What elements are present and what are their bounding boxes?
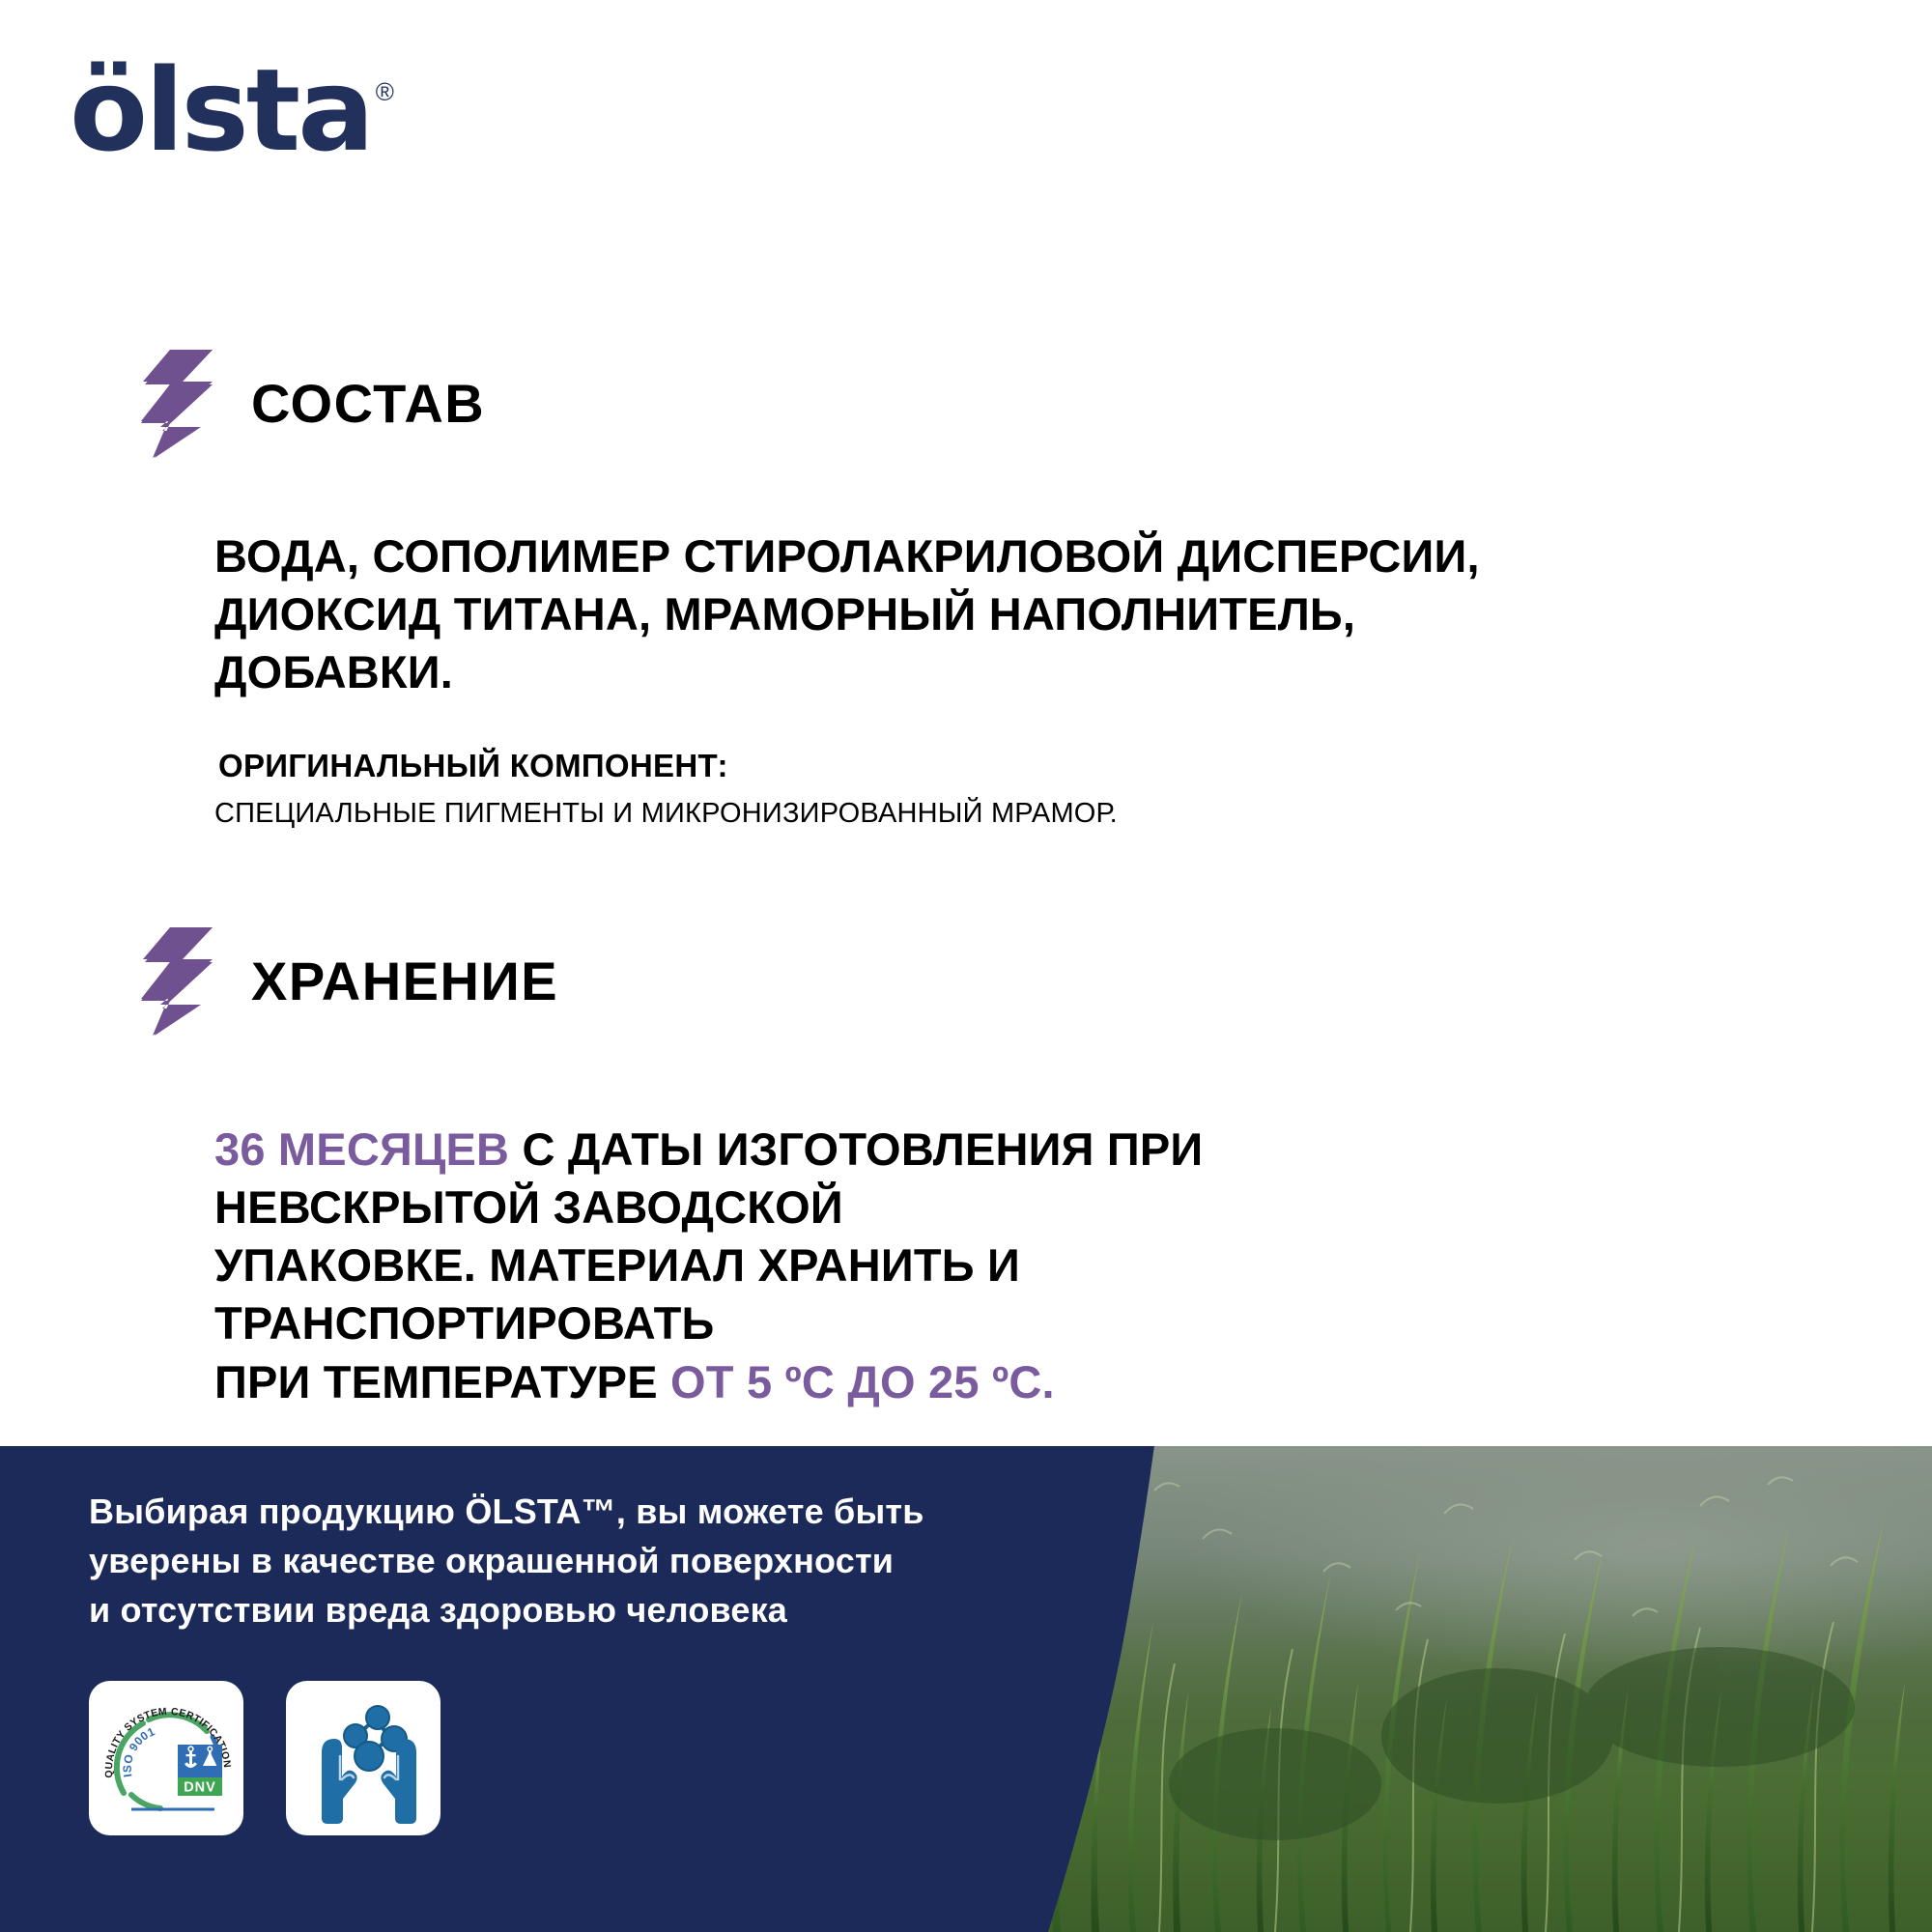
certification-badges: QUALITY SYSTEM CERTIFICATION ISO 9001	[89, 1681, 440, 1835]
hands-holding-molecules-badge	[286, 1681, 440, 1835]
footer-statement-line-3: и отсутствии вреда здоровью человека	[89, 1585, 958, 1634]
storage-line-1: 36 МЕСЯЦЕВ С ДАТЫ ИЗГОТОВЛЕНИЯ ПРИ НЕВСК…	[214, 1121, 1507, 1236]
original-component-text: СПЕЦИАЛЬНЫЕ ПИГМЕНТЫ И МИКРОНИЗИРОВАННЫЙ…	[0, 798, 1932, 830]
footer-banner: Выбирая продукцию ÖLSTA™, вы можете быть…	[0, 1446, 1932, 1932]
storage-line-2: УПАКОВКЕ. МАТЕРИАЛ ХРАНИТЬ И ТРАНСПОРТИР…	[214, 1236, 1507, 1352]
original-component-label: ОРИГИНАЛЬНЫЙ КОМПОНЕНТ:	[0, 748, 1932, 784]
lightning-bolt-icon	[141, 350, 213, 458]
section-composition-header: СОСТАВ	[0, 350, 1932, 458]
storage-duration-value: 36 МЕСЯЦЕВ	[214, 1123, 509, 1175]
footer-statement: Выбирая продукцию ÖLSTA™, вы можете быть…	[89, 1487, 958, 1634]
svg-text:DNV: DNV	[184, 1780, 216, 1796]
brand-logo: ölsta ®	[70, 56, 394, 164]
grass-field-photo	[956, 1446, 1932, 1932]
grass-blades-illustration	[956, 1446, 1932, 1932]
logo-wordmark: ölsta	[70, 56, 372, 164]
footer-statement-line-2: уверены в качестве окрашенной поверхност…	[89, 1536, 958, 1585]
section-storage-title: ХРАНЕНИЕ	[251, 954, 558, 1009]
iso-9001-dnv-logo-icon: QUALITY SYSTEM CERTIFICATION ISO 9001	[89, 1681, 243, 1835]
registered-trademark-icon: ®	[376, 77, 394, 107]
storage-temperature-label: ПРИ ТЕМПЕРАТУРЕ	[214, 1356, 670, 1407]
iso-9001-certification-badge: QUALITY SYSTEM CERTIFICATION ISO 9001	[89, 1681, 243, 1835]
composition-body-text: ВОДА, СОПОЛИМЕР СТИРОЛАКРИЛОВОЙ ДИСПЕРСИ…	[0, 527, 1507, 701]
section-composition-title: СОСТАВ	[251, 377, 485, 431]
hands-molecules-icon	[286, 1681, 440, 1835]
lightning-bolt-icon	[141, 927, 213, 1036]
footer-statement-line-1: Выбирая продукцию ÖLSTA™, вы можете быть	[89, 1487, 958, 1536]
section-storage: ХРАНЕНИЕ 36 МЕСЯЦЕВ С ДАТЫ ИЗГОТОВЛЕНИЯ …	[0, 927, 1932, 1411]
section-composition: СОСТАВ ВОДА, СОПОЛИМЕР СТИРОЛАКРИЛОВОЙ Д…	[0, 350, 1932, 830]
product-info-page: ölsta ® СОСТАВ ВОДА, СОПОЛИМЕР СТИРОЛАКР…	[0, 0, 1932, 1932]
section-storage-header: ХРАНЕНИЕ	[0, 927, 1932, 1036]
storage-line-3: ПРИ ТЕМПЕРАТУРЕ ОТ 5 ºC ДО 25 ºC.	[214, 1353, 1507, 1411]
storage-body-text: 36 МЕСЯЦЕВ С ДАТЫ ИЗГОТОВЛЕНИЯ ПРИ НЕВСК…	[0, 1121, 1507, 1411]
storage-temperature-value: ОТ 5 ºC ДО 25 ºC.	[670, 1356, 1055, 1407]
